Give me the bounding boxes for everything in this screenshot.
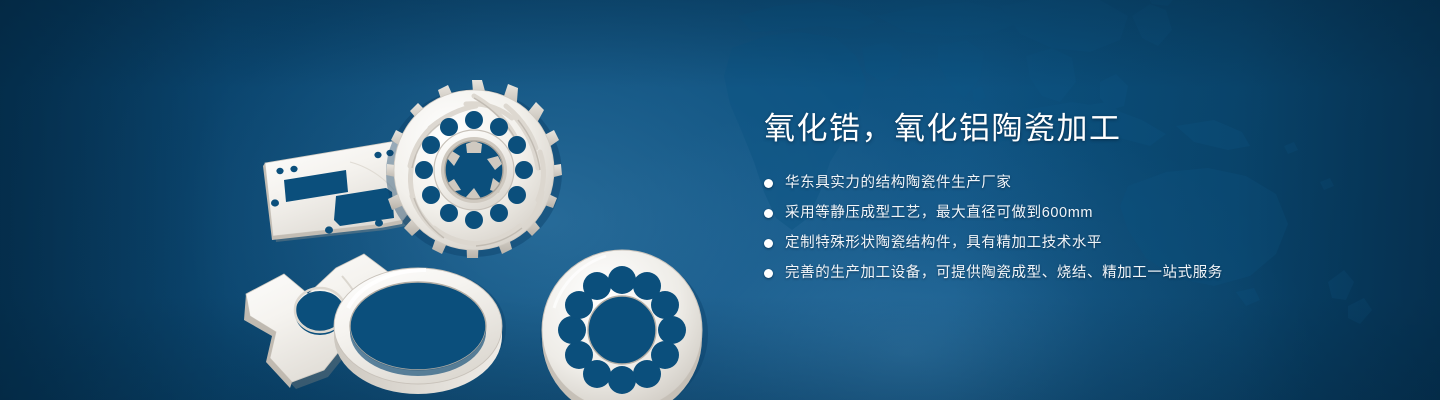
product-banner: 氧化锆，氧化铝陶瓷加工 华东具实力的结构陶瓷件生产厂家 采用等静压成型工艺，最大… [0,0,1440,400]
feature-text: 定制特殊形状陶瓷结构件，具有精加工技术水平 [785,233,1102,254]
banner-copy: 氧化锆，氧化铝陶瓷加工 华东具实力的结构陶瓷件生产厂家 采用等静压成型工艺，最大… [764,110,1384,284]
list-item: 采用等静压成型工艺，最大直径可做到600mm [764,203,1384,224]
bullet-dot-icon [764,179,773,188]
bullet-dot-icon [764,209,773,218]
page-title: 氧化锆，氧化铝陶瓷加工 [764,110,1384,147]
ceramic-ring-part [334,268,506,394]
feature-list: 华东具实力的结构陶瓷件生产厂家 采用等静压成型工艺，最大直径可做到600mm 定… [764,173,1384,284]
bullet-dot-icon [764,269,773,278]
list-item: 定制特殊形状陶瓷结构件，具有精加工技术水平 [764,233,1384,254]
feature-text: 华东具实力的结构陶瓷件生产厂家 [785,173,1012,194]
list-item: 完善的生产加工设备，可提供陶瓷成型、烧结、精加工一站式服务 [764,263,1384,284]
ceramic-impeller-part [386,80,562,258]
product-photo-cluster [230,40,720,390]
bullet-dot-icon [764,239,773,248]
list-item: 华东具实力的结构陶瓷件生产厂家 [764,173,1384,194]
feature-text: 采用等静压成型工艺，最大直径可做到600mm [785,203,1093,224]
feature-text: 完善的生产加工设备，可提供陶瓷成型、烧结、精加工一站式服务 [785,263,1223,284]
ceramic-hole-disc-part [540,250,708,400]
